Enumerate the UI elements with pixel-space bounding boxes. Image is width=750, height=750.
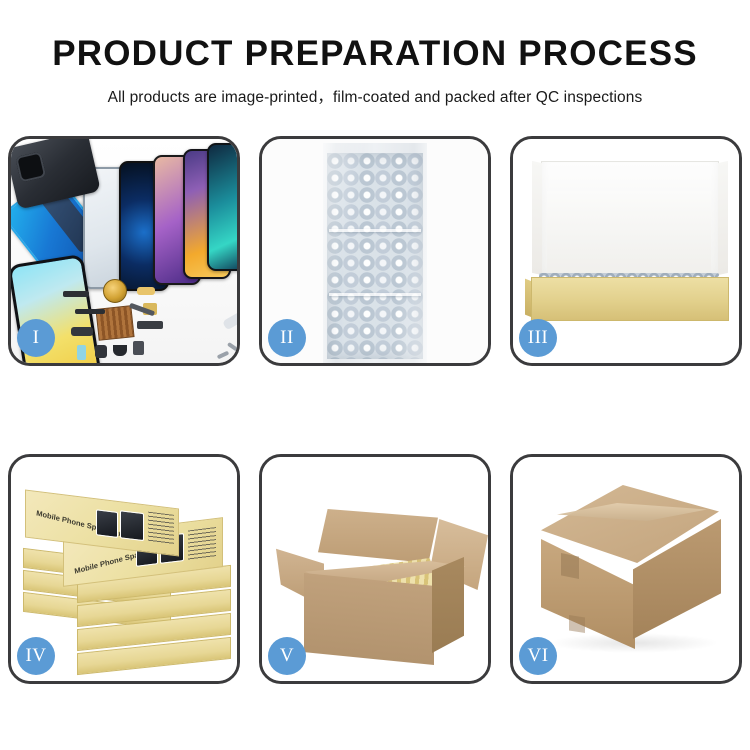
bubble-wrap-packet-icon	[323, 143, 427, 363]
carton-front-icon	[304, 573, 434, 665]
carton-seam-patch	[569, 615, 585, 633]
process-steps-grid: I II III	[8, 136, 742, 684]
teal-display-icon	[207, 143, 237, 271]
carton-seam-patch	[561, 553, 579, 579]
step-badge-iii: III	[519, 319, 557, 357]
step-panel-ii: II	[259, 136, 491, 366]
step-panel-iii: III	[510, 136, 742, 366]
component-part-icon	[113, 345, 127, 356]
tool-icon	[222, 310, 237, 331]
page-header: PRODUCT PREPARATION PROCESS All products…	[0, 0, 750, 107]
screw-icon	[227, 342, 237, 352]
page-title: PRODUCT PREPARATION PROCESS	[0, 36, 750, 73]
printed-box-lid: Mobile Phone Spare Parts	[25, 490, 179, 557]
step-badge-v: V	[268, 637, 306, 675]
lid-spec-lines	[188, 527, 216, 560]
step-panel-vi: VI	[510, 454, 742, 684]
lid-screen-image	[120, 510, 144, 541]
retail-box-stack-icon: Mobile Phone Spare Parts Mobile Phone Sp…	[21, 475, 233, 675]
component-part-icon	[71, 327, 93, 336]
screw-icon	[217, 351, 230, 360]
foam-sheet-icon	[547, 191, 711, 275]
step-panel-v: V	[259, 454, 491, 684]
component-part-icon	[137, 287, 155, 295]
component-part-icon	[95, 345, 107, 358]
component-part-icon	[75, 309, 105, 314]
box-tray-icon	[531, 277, 729, 321]
carton-back-flap-icon	[318, 509, 438, 563]
carton-side-icon	[432, 557, 464, 653]
step-badge-iv: IV	[17, 637, 55, 675]
component-part-icon	[133, 341, 144, 355]
component-part-icon	[137, 321, 163, 329]
step-badge-i: I	[17, 319, 55, 357]
step-panel-i: I	[8, 136, 240, 366]
step-badge-ii: II	[268, 319, 306, 357]
lid-spec-lines	[148, 512, 174, 545]
step-panel-iv: Mobile Phone Spare Parts Mobile Phone Sp…	[8, 454, 240, 684]
page-subtitle: All products are image-printed，film-coat…	[0, 85, 750, 107]
wrap-sheen	[323, 143, 427, 363]
step-badge-vi: VI	[519, 637, 557, 675]
component-part-icon	[63, 291, 89, 297]
lid-screen-image	[96, 509, 118, 538]
component-part-icon	[77, 345, 86, 360]
charging-coil-icon	[103, 279, 127, 303]
